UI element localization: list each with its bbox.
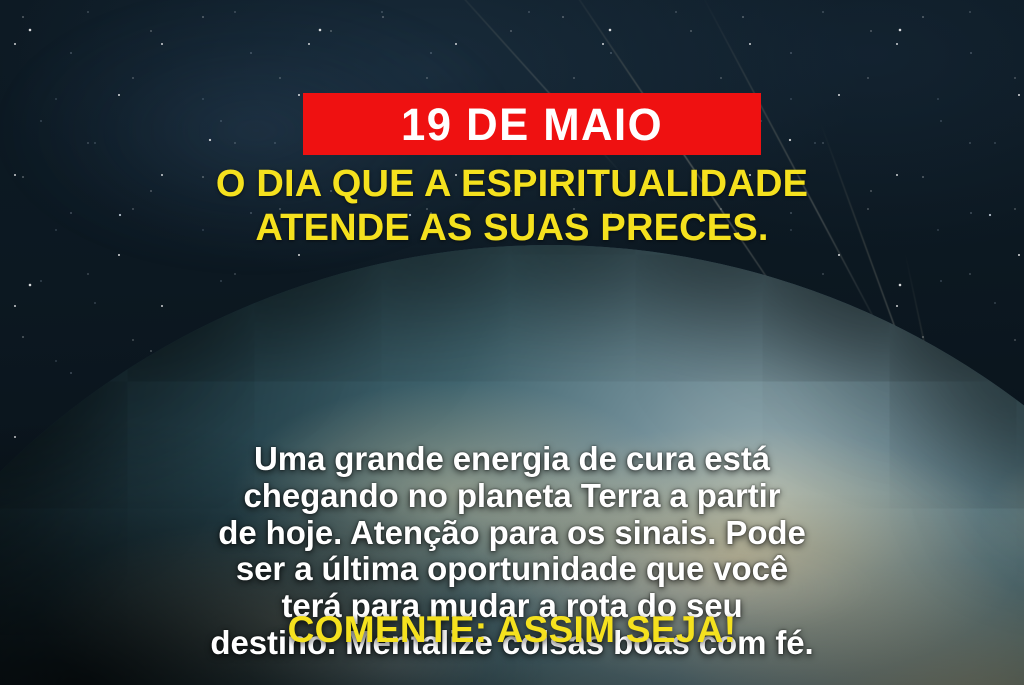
- body-line-2: chegando no planeta Terra a partir: [44, 478, 980, 515]
- headline-line-1: O DIA QUE A ESPIRITUALIDADE: [46, 162, 978, 206]
- poster-canvas: 19 DE MAIO O DIA QUE A ESPIRITUALIDADE A…: [0, 0, 1024, 685]
- body-line-1: Uma grande energia de cura está: [44, 441, 980, 478]
- date-badge: 19 DE MAIO: [303, 93, 761, 155]
- headline-line-2: ATENDE AS SUAS PRECES.: [46, 206, 978, 250]
- call-to-action-text: COMENTE: ASSIM SEJA!: [0, 611, 1024, 648]
- headline: O DIA QUE A ESPIRITUALIDADE ATENDE AS SU…: [0, 162, 1024, 251]
- content-layer: 19 DE MAIO O DIA QUE A ESPIRITUALIDADE A…: [0, 0, 1024, 685]
- body-line-3: de hoje. Atenção para os sinais. Pode: [44, 515, 980, 552]
- body-line-4: ser a última oportunidade que você: [44, 551, 980, 588]
- date-badge-label: 19 DE MAIO: [401, 102, 663, 147]
